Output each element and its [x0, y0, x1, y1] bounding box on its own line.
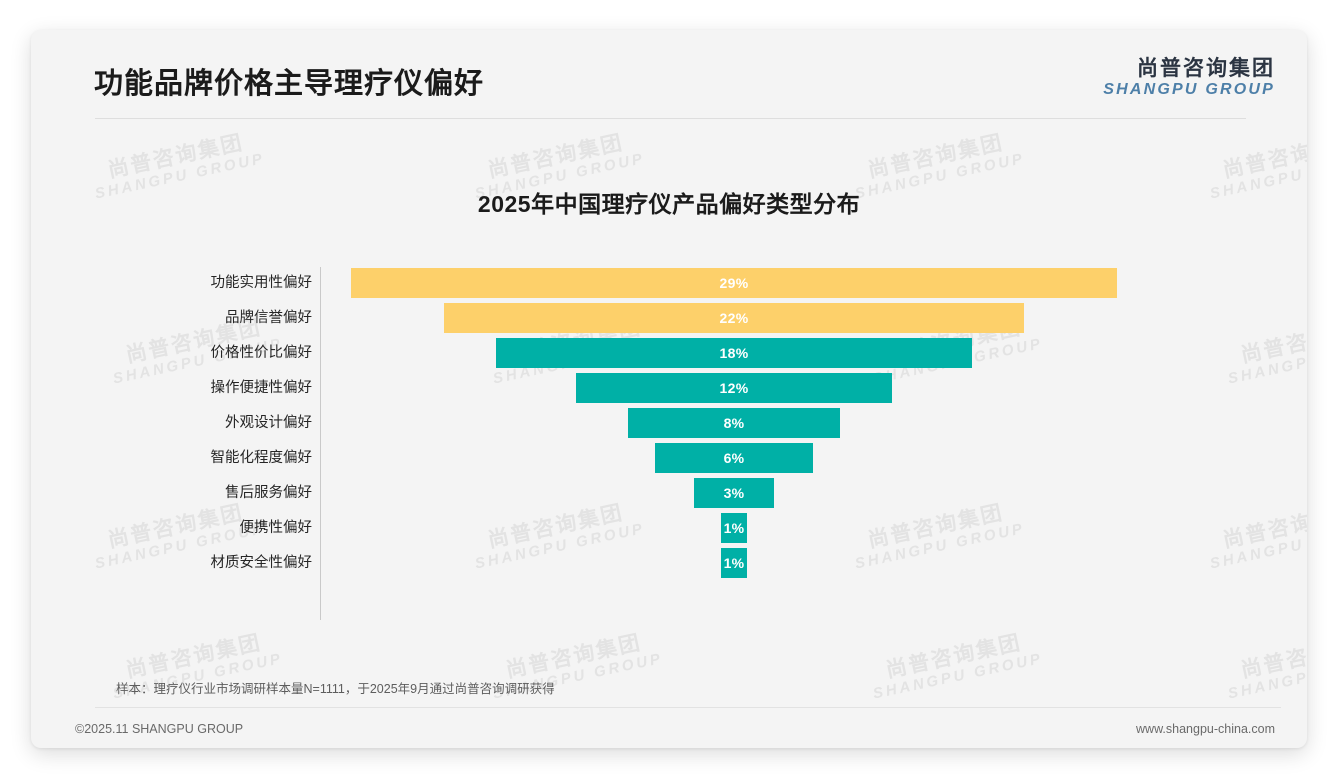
watermark-tile: 尚普咨询集团SHANGPU GROUP [1222, 627, 1307, 702]
category-label: 品牌信誉偏好 [31, 303, 312, 333]
chart-rows: 功能实用性偏好29%品牌信誉偏好22%价格性价比偏好18%操作便捷性偏好12%外… [31, 268, 1307, 583]
watermark-en: SHANGPU GROUP [872, 650, 1045, 702]
bar-value-label: 1% [724, 520, 745, 536]
chart-row: 智能化程度偏好6% [31, 443, 1307, 473]
bar[interactable]: 12% [576, 373, 893, 403]
brand-logo-en: SHANGPU GROUP [1103, 81, 1275, 99]
chart-row: 品牌信誉偏好22% [31, 303, 1307, 333]
bar[interactable]: 1% [721, 548, 747, 578]
bar[interactable]: 3% [694, 478, 773, 508]
bar-value-label: 29% [720, 275, 749, 291]
category-label: 便携性偏好 [31, 513, 312, 543]
category-label: 价格性价比偏好 [31, 338, 312, 368]
bar-track: 22% [321, 303, 1307, 333]
watermark-cn: 尚普咨询集团 [1222, 627, 1307, 686]
chart-footnote: 样本：理疗仪行业市场调研样本量N=1111，于2025年9月通过尚普咨询调研获得 [116, 678, 555, 697]
category-label: 功能实用性偏好 [31, 268, 312, 298]
slide-header: 功能品牌价格主导理疗仪偏好 尚普咨询集团 SHANGPU GROUP [31, 30, 1307, 122]
bar-value-label: 12% [720, 380, 749, 396]
bar-track: 29% [321, 268, 1307, 298]
bar-track: 18% [321, 338, 1307, 368]
chart-title: 2025年中国理疗仪产品偏好类型分布 [31, 185, 1307, 219]
bar[interactable]: 18% [496, 338, 971, 368]
bar-value-label: 22% [720, 310, 749, 326]
bar[interactable]: 1% [721, 513, 747, 543]
bar-value-label: 8% [724, 415, 745, 431]
bar[interactable]: 29% [351, 268, 1117, 298]
chart-row: 材质安全性偏好1% [31, 548, 1307, 578]
bar-track: 1% [321, 513, 1307, 543]
footer-copyright: ©2025.11 SHANGPU GROUP [75, 722, 243, 736]
slide-footer: ©2025.11 SHANGPU GROUP www.shangpu-china… [31, 714, 1307, 748]
bar-value-label: 6% [724, 450, 745, 466]
category-label: 外观设计偏好 [31, 408, 312, 438]
slide-canvas: 尚普咨询集团SHANGPU GROUP尚普咨询集团SHANGPU GROUP尚普… [0, 0, 1340, 780]
bar-value-label: 3% [724, 485, 745, 501]
bar-track: 1% [321, 548, 1307, 578]
chart-row: 功能实用性偏好29% [31, 268, 1307, 298]
footnote-divider [95, 707, 1281, 708]
category-label: 智能化程度偏好 [31, 443, 312, 473]
category-label: 操作便捷性偏好 [31, 373, 312, 403]
bar-value-label: 18% [720, 345, 749, 361]
chart-plot-area: 功能实用性偏好29%品牌信誉偏好22%价格性价比偏好18%操作便捷性偏好12%外… [31, 267, 1307, 597]
brand-logo-cn: 尚普咨询集团 [1103, 57, 1275, 81]
chart-row: 操作便捷性偏好12% [31, 373, 1307, 403]
bar[interactable]: 8% [628, 408, 839, 438]
slide-card: 尚普咨询集团SHANGPU GROUP尚普咨询集团SHANGPU GROUP尚普… [31, 30, 1307, 748]
bar-track: 6% [321, 443, 1307, 473]
chart-row: 便携性偏好1% [31, 513, 1307, 543]
category-label: 售后服务偏好 [31, 478, 312, 508]
bar[interactable]: 22% [444, 303, 1025, 333]
bar-track: 3% [321, 478, 1307, 508]
bar-value-label: 1% [724, 555, 745, 571]
chart-row: 价格性价比偏好18% [31, 338, 1307, 368]
chart-row: 外观设计偏好8% [31, 408, 1307, 438]
watermark-cn: 尚普咨询集团 [867, 627, 1041, 686]
watermark-tile: 尚普咨询集团SHANGPU GROUP [867, 627, 1045, 702]
chart-container: 2025年中国理疗仪产品偏好类型分布 功能实用性偏好29%品牌信誉偏好22%价格… [31, 130, 1307, 597]
chart-row: 售后服务偏好3% [31, 478, 1307, 508]
bar[interactable]: 6% [655, 443, 813, 473]
brand-logo: 尚普咨询集团 SHANGPU GROUP [1103, 57, 1275, 100]
watermark-en: SHANGPU GROUP [1227, 650, 1307, 702]
footer-website[interactable]: www.shangpu-china.com [1136, 722, 1275, 736]
category-label: 材质安全性偏好 [31, 548, 312, 578]
bar-track: 12% [321, 373, 1307, 403]
header-divider [95, 118, 1246, 119]
bar-track: 8% [321, 408, 1307, 438]
page-title: 功能品牌价格主导理疗仪偏好 [94, 60, 484, 102]
